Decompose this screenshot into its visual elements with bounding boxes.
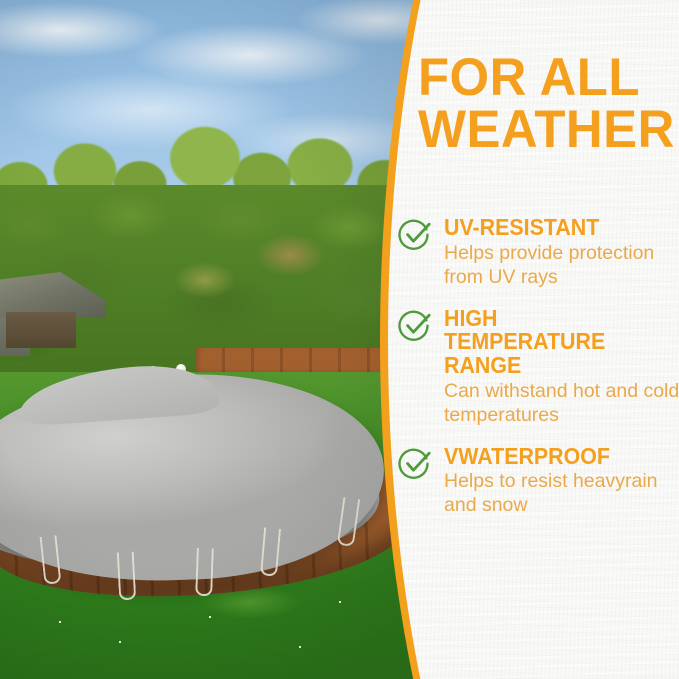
check-circle-icon xyxy=(398,218,432,252)
banner-title-line1: FOR ALL xyxy=(418,52,666,104)
feature-description: Helps to resist heavyrain and snow xyxy=(444,470,679,518)
banner-title-line2: WEATHER xyxy=(418,104,666,156)
product-feature-banner: FOR ALL WEATHER UV-RESISTANT Helps provi… xyxy=(0,0,679,679)
check-circle-icon xyxy=(398,447,432,481)
feature-description: Helps provide protection from UV rays xyxy=(444,242,679,290)
feature-item-uv-resistant: UV-RESISTANT Helps provide protection fr… xyxy=(398,216,679,290)
info-panel-content: FOR ALL WEATHER UV-RESISTANT Helps provi… xyxy=(0,0,679,679)
banner-title: FOR ALL WEATHER xyxy=(418,52,666,156)
check-circle-icon xyxy=(398,309,432,343)
feature-title: HIGH TEMPERATURE RANGE xyxy=(444,307,663,378)
feature-item-high-temperature-range: HIGH TEMPERATURE RANGE Can withstand hot… xyxy=(398,307,679,428)
feature-item-vwaterproof: VWATERPROOF Helps to resist heavyrain an… xyxy=(398,445,679,519)
feature-list: UV-RESISTANT Helps provide protection fr… xyxy=(398,216,679,535)
feature-title: UV-RESISTANT xyxy=(444,216,663,240)
feature-title: VWATERPROOF xyxy=(444,445,663,469)
feature-description: Can withstand hot and cold temperatures xyxy=(444,380,679,428)
